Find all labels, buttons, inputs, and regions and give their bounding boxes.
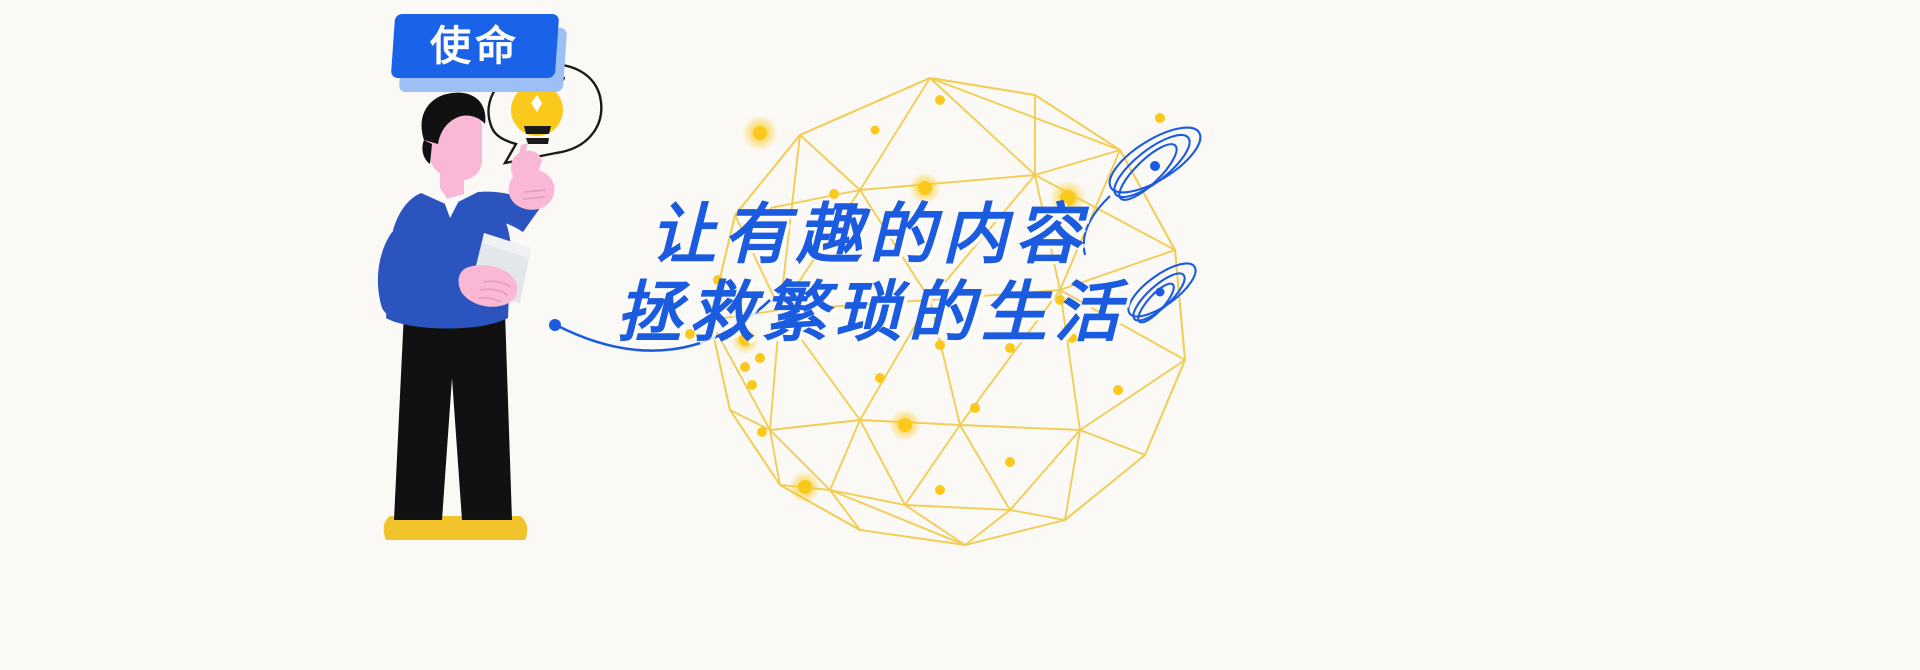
mission-badge: 使命 xyxy=(393,14,565,92)
badge-label: 使命 xyxy=(430,26,520,67)
headline-line-1: 让有趣的内容 xyxy=(650,196,1290,274)
mission-banner: 使命 让有趣的内容 拯救繁琐的生活 xyxy=(0,0,1920,670)
badge-plate: 使命 xyxy=(391,14,559,78)
headline-block: 让有趣的内容 拯救繁琐的生活 xyxy=(650,196,1290,352)
headline-line-2: 拯救繁琐的生活 xyxy=(616,274,1290,352)
trousers xyxy=(394,312,512,520)
